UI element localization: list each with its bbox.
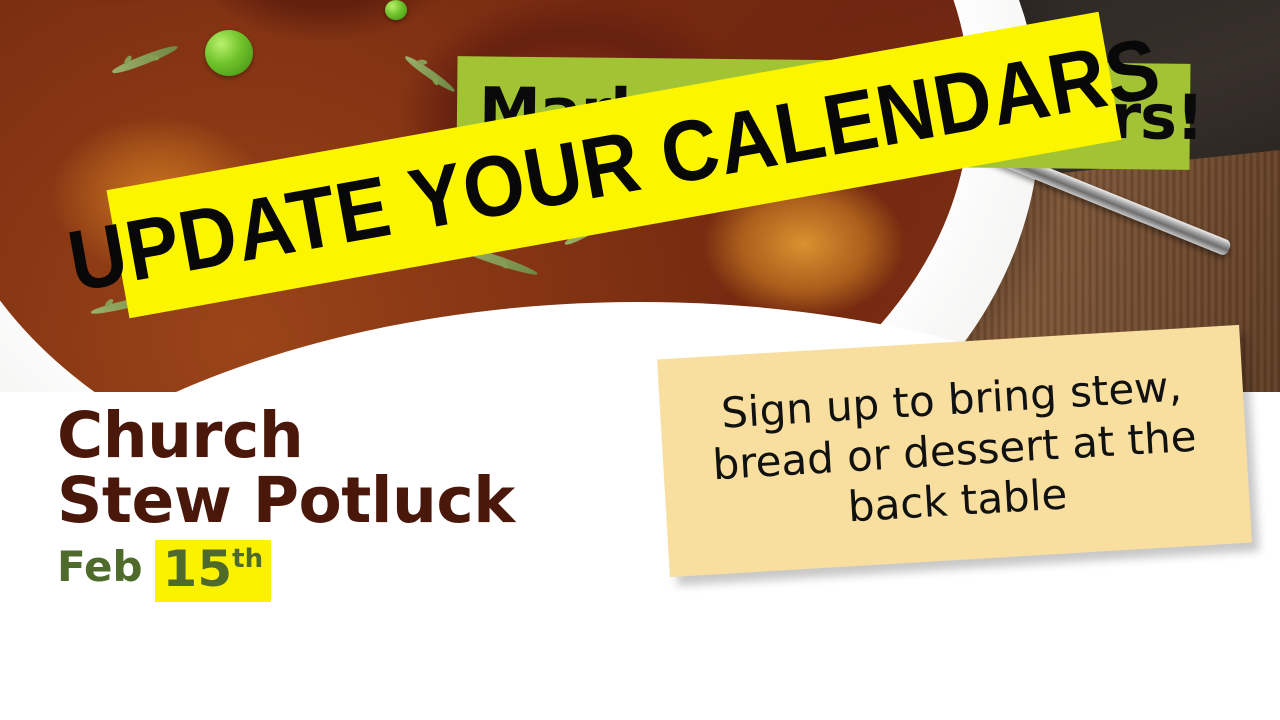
date-month: Feb (57, 540, 143, 588)
headline-line-2: Stew Potluck (57, 469, 677, 534)
date-suffix: th (232, 546, 263, 572)
pea-icon (205, 30, 253, 76)
event-headline: Church Stew Potluck Feb 15 th (57, 404, 677, 602)
pea-icon (385, 0, 407, 20)
event-date: Feb 15 th (57, 540, 677, 602)
date-highlight: 15 th (155, 540, 272, 602)
date-day: 15 (163, 544, 233, 594)
thyme-sprig-icon (403, 54, 457, 94)
thyme-sprig-icon (111, 42, 179, 77)
poster-canvas: Mark your calendars! UPDATE YOUR CALENDA… (0, 0, 1280, 720)
headline-line-1: Church (57, 404, 677, 469)
signup-callout-text: Sign up to bring stew, bread or dessert … (677, 359, 1232, 542)
signup-callout-box: Sign up to bring stew, bread or dessert … (657, 325, 1252, 577)
